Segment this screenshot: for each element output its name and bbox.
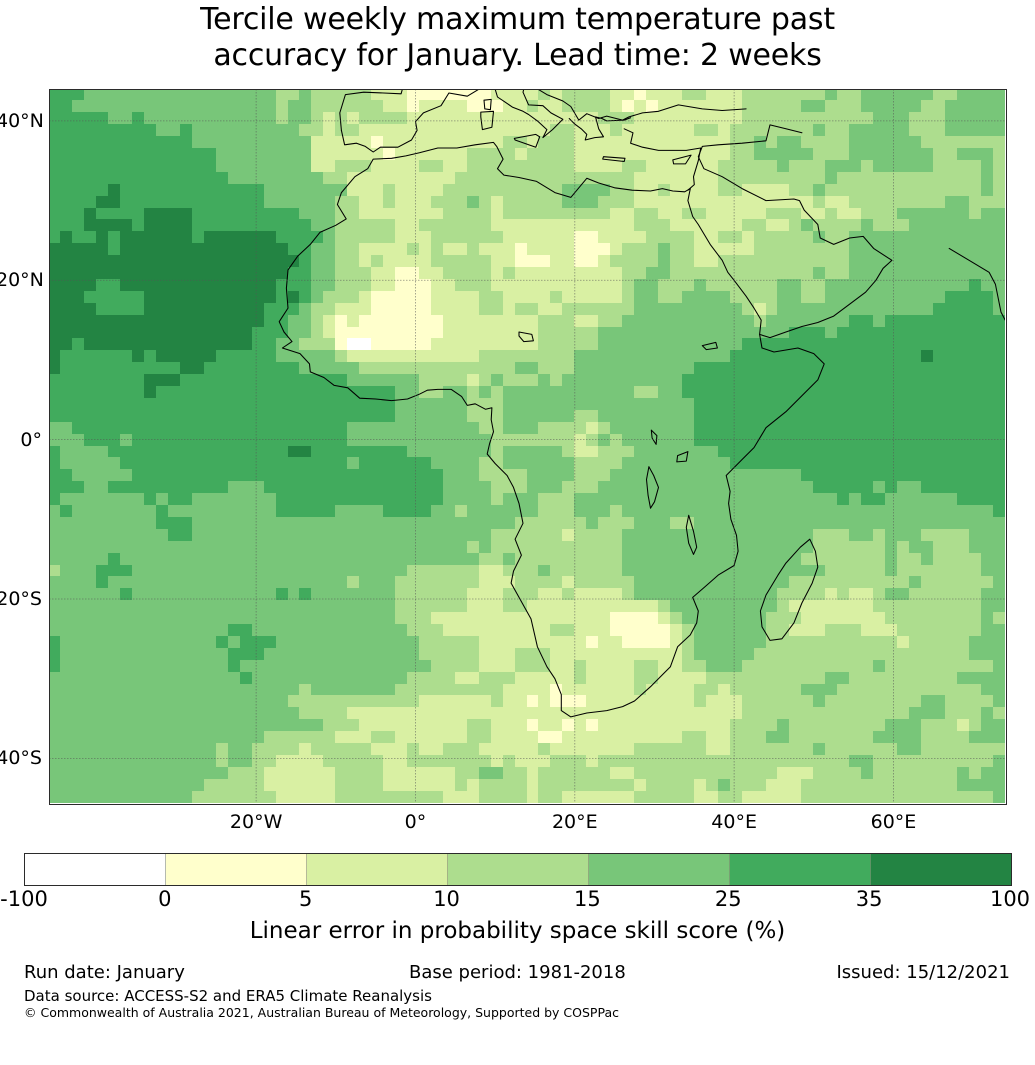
graticule-layer: [49, 89, 1005, 803]
longitude-tick-40°E: 40°E: [674, 813, 794, 832]
copyright-text: © Commonwealth of Australia 2021, Austra…: [24, 1006, 619, 1020]
data-source-text: Data source: ACCESS-S2 and ERA5 Climate …: [24, 988, 432, 1005]
colorbar-tick-15: 15: [574, 889, 601, 910]
colorbar-segment-5: [730, 854, 871, 885]
map-axes[interactable]: [49, 89, 1005, 803]
latitude-tick-20°S: 20°S: [0, 590, 42, 609]
colorbar-tick--100: -100: [0, 889, 48, 910]
latitude-tick-40°N: 40°N: [0, 112, 42, 131]
page-title: Tercile weekly maximum temperature past …: [0, 0, 1035, 74]
base-period-text: Base period: 1981-2018: [409, 963, 626, 983]
longitude-tick-0°: 0°: [355, 813, 475, 832]
colorbar-segment-3: [448, 854, 589, 885]
colorbar-segment-2: [307, 854, 448, 885]
issued-date-text: Issued: 15/12/2021: [836, 963, 1010, 983]
colorbar-segment-4: [589, 854, 730, 885]
colorbar-gradient: [24, 853, 1012, 886]
run-date-text: Run date: January: [24, 963, 185, 983]
colorbar-segment-6: [871, 854, 1011, 885]
longitude-tick-60°E: 60°E: [833, 813, 953, 832]
colorbar-tick-0: 0: [158, 889, 171, 910]
colorbar-tick-35: 35: [856, 889, 883, 910]
colorbar[interactable]: -1000510152535100: [24, 853, 1010, 884]
latitude-tick-40°S: 40°S: [0, 749, 42, 768]
colorbar-tick-25: 25: [715, 889, 742, 910]
longitude-tick-20°W: 20°W: [196, 813, 316, 832]
latitude-tick-0°: 0°: [0, 431, 42, 450]
latitude-tick-20°N: 20°N: [0, 271, 42, 290]
longitude-tick-20°E: 20°E: [515, 813, 635, 832]
colorbar-tick-5: 5: [299, 889, 312, 910]
colorbar-tick-10: 10: [433, 889, 460, 910]
colorbar-axis-label: Linear error in probability space skill …: [0, 918, 1035, 944]
forecast-skill-figure: Tercile weekly maximum temperature past …: [0, 0, 1035, 1065]
colorbar-tick-100: 100: [990, 889, 1030, 910]
colorbar-segment-0: [25, 854, 166, 885]
colorbar-segment-1: [166, 854, 307, 885]
footer-metadata-row: Run date: January Base period: 1981-2018…: [24, 963, 1010, 985]
